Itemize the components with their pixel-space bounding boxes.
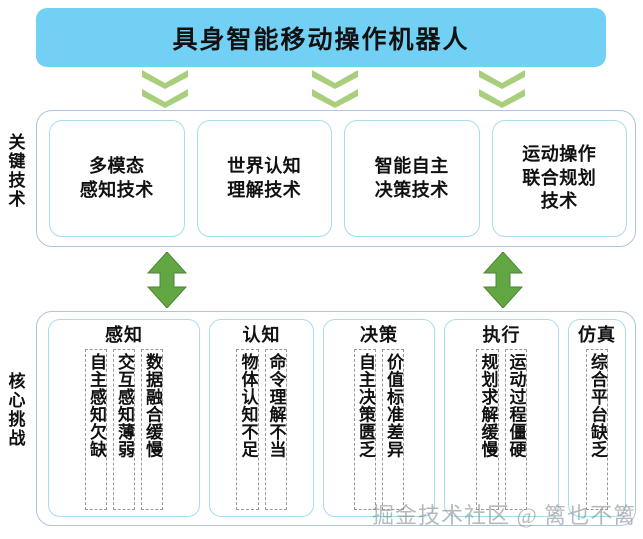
core-challenges-row: 感知 自主感知欠缺 交互感知薄弱 数据融合缓慢 认知	[48, 319, 626, 517]
core-challenges-side-label: 核 心 挑 战	[2, 372, 32, 448]
key-tech-card-label: 多模态 感知技术	[80, 155, 154, 203]
challenge-group-title: 仿真	[578, 322, 616, 349]
challenge-item[interactable]: 物体认知不足	[236, 349, 258, 510]
core-challenges-side-label-char: 核	[2, 372, 32, 391]
challenge-item[interactable]: 自主决策匮乏	[354, 349, 376, 510]
challenge-group-cognition[interactable]: 认知 物体认知不足 命令理解不当	[209, 319, 314, 517]
key-tech-card-motion-planning[interactable]: 运动操作 联合规划 技术	[492, 120, 628, 237]
challenge-item[interactable]: 命令理解不当	[265, 349, 287, 510]
main-title-banner: 具身智能移动操作机器人	[36, 8, 606, 67]
main-title-text: 具身智能移动操作机器人	[172, 20, 469, 56]
double-chevron-down-icon	[142, 70, 188, 108]
challenge-item-list: 自主感知欠缺 交互感知薄弱 数据融合缓慢	[55, 349, 193, 510]
challenge-item-label: 数据融合缓慢	[143, 353, 161, 458]
challenge-item-label: 综合平台缺乏	[588, 353, 606, 458]
diagram-canvas: 具身智能移动操作机器人 关 键 技 术	[0, 0, 643, 539]
challenge-item-label: 命令理解不当	[267, 353, 285, 458]
key-tech-card-label: 运动操作 联合规划 技术	[522, 143, 596, 214]
challenge-item[interactable]: 综合平台缺乏	[586, 349, 608, 510]
key-tech-card-label: 智能自主 决策技术	[375, 155, 449, 203]
challenge-group-perception[interactable]: 感知 自主感知欠缺 交互感知薄弱 数据融合缓慢	[48, 319, 200, 517]
core-challenges-side-label-char: 挑	[2, 410, 32, 429]
double-chevron-down-icon	[479, 70, 525, 108]
challenge-item-label: 价值标准差异	[384, 353, 402, 458]
double-headed-arrow-icon	[147, 252, 187, 308]
key-tech-card-multimodal-perception[interactable]: 多模态 感知技术	[49, 120, 185, 237]
challenge-group-title: 感知	[105, 322, 143, 349]
challenge-item[interactable]: 数据融合缓慢	[141, 349, 163, 510]
core-challenges-side-label-char: 战	[2, 429, 32, 448]
challenge-group-decision[interactable]: 决策 自主决策匮乏 价值标准差异	[323, 319, 435, 517]
double-chevron-down-icon	[312, 70, 358, 108]
challenge-item[interactable]: 运动过程僵硬	[505, 349, 527, 510]
challenge-item-list: 规划求解缓慢 运动过程僵硬	[451, 349, 552, 510]
key-tech-card-label: 世界认知 理解技术	[227, 155, 301, 203]
challenge-item-label: 自主决策匮乏	[356, 353, 374, 458]
key-tech-card-world-cognition[interactable]: 世界认知 理解技术	[197, 120, 333, 237]
challenge-item[interactable]: 规划求解缓慢	[476, 349, 498, 510]
key-tech-side-label-char: 键	[2, 152, 32, 171]
challenge-item-label: 物体认知不足	[238, 353, 256, 458]
challenge-item[interactable]: 交互感知薄弱	[113, 349, 135, 510]
key-tech-side-label-char: 关	[2, 133, 32, 152]
key-tech-side-label-char: 技	[2, 171, 32, 190]
key-tech-row: 多模态 感知技术 世界认知 理解技术 智能自主 决策技术 运动操作 联合规划 技…	[49, 120, 627, 237]
challenge-item[interactable]: 价值标准差异	[382, 349, 404, 510]
challenge-group-simulation[interactable]: 仿真 综合平台缺乏	[568, 319, 626, 517]
challenge-item-list: 物体认知不足 命令理解不当	[216, 349, 307, 510]
challenge-item-label: 规划求解缓慢	[478, 353, 496, 458]
core-challenges-container: 感知 自主感知欠缺 交互感知薄弱 数据融合缓慢 认知	[36, 311, 636, 526]
double-headed-arrow-icon	[483, 252, 523, 308]
key-tech-container: 多模态 感知技术 世界认知 理解技术 智能自主 决策技术 运动操作 联合规划 技…	[36, 110, 636, 247]
challenge-item-label: 交互感知薄弱	[115, 353, 133, 458]
challenge-item-label: 自主感知欠缺	[87, 353, 105, 458]
key-tech-side-label: 关 键 技 术	[2, 133, 32, 209]
challenge-group-title: 认知	[243, 322, 281, 349]
challenge-item-label: 运动过程僵硬	[507, 353, 525, 458]
challenge-group-title: 执行	[483, 322, 521, 349]
key-tech-card-autonomous-decision[interactable]: 智能自主 决策技术	[344, 120, 480, 237]
challenge-group-execution[interactable]: 执行 规划求解缓慢 运动过程僵硬	[444, 319, 559, 517]
key-tech-side-label-char: 术	[2, 190, 32, 209]
challenge-item-list: 综合平台缺乏	[575, 349, 619, 510]
core-challenges-side-label-char: 心	[2, 391, 32, 410]
challenge-group-title: 决策	[360, 322, 398, 349]
challenge-item[interactable]: 自主感知欠缺	[85, 349, 107, 510]
challenge-item-list: 自主决策匮乏 价值标准差异	[330, 349, 428, 510]
